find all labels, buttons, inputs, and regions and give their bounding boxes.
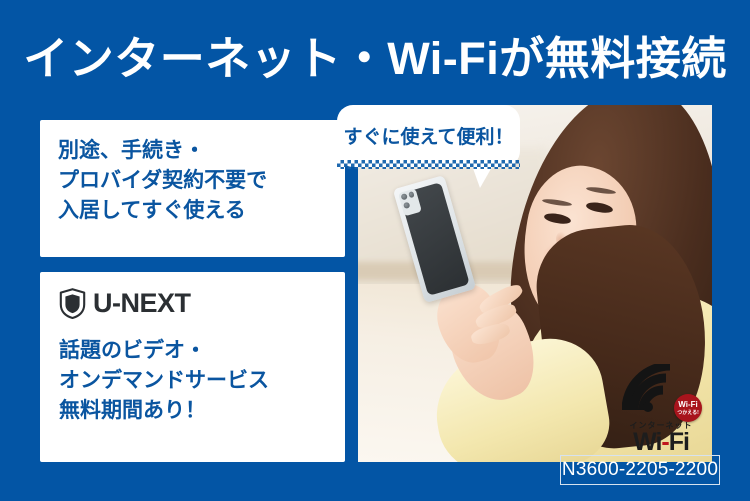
camera-lens-icon	[403, 201, 410, 208]
unext-wordmark: U-NEXT	[93, 290, 191, 317]
camera-lens-icon	[407, 191, 414, 198]
unext-logo: U-NEXT	[59, 288, 191, 319]
wifi-available-badge-line-1: Wi-Fi	[674, 401, 702, 409]
speech-bubble-text: すぐに使えて便利！	[337, 122, 520, 149]
info-card-unext-line-2: オンデマンドサービス	[59, 366, 339, 396]
camera-lens-icon	[400, 193, 407, 200]
info-card-internet: 別途、手続き・ プロバイダ契約不要で 入居してすぐ使える	[40, 120, 345, 257]
wifi-word-right: Fi	[669, 428, 689, 456]
info-card-unext: U-NEXT 話題のビデオ・ オンデマンドサービス 無料期間あり！	[40, 272, 345, 462]
page-title: インターネット・Wi-Fiが無料接続	[0, 36, 750, 81]
info-card-unext-text: 話題のビデオ・ オンデマンドサービス 無料期間あり！	[59, 336, 339, 425]
speech-bubble: すぐに使えて便利！	[337, 105, 520, 167]
wifi-word-dash: -	[661, 428, 668, 456]
wifi-mark-wordmark: Wi-Fi	[618, 430, 704, 455]
speech-bubble-edge	[337, 160, 520, 169]
wifi-available-badge-line-2: つかえる!	[674, 411, 702, 416]
info-card-internet-line-3: 入居してすぐ使える	[58, 196, 333, 226]
info-card-unext-line-1: 話題のビデオ・	[59, 336, 339, 366]
wifi-certification-mark: Wi-Fi つかえる! インターネット Wi-Fi	[618, 364, 704, 456]
reference-code-box: N3600-2205-2200	[560, 455, 720, 485]
info-card-unext-line-3: 無料期間あり！	[59, 396, 339, 426]
wifi-available-badge: Wi-Fi つかえる!	[674, 394, 702, 422]
info-card-internet-line-2: プロバイダ契約不要で	[58, 166, 333, 196]
info-card-internet-line-1: 別途、手続き・	[58, 136, 333, 166]
advertisement-banner: インターネット・Wi-Fiが無料接続 別途、手続き・ プロバイダ契約不要で 入居…	[0, 0, 750, 501]
wifi-word-left: Wi	[633, 428, 661, 456]
shield-icon	[59, 288, 86, 319]
info-card-internet-text: 別途、手続き・ プロバイダ契約不要で 入居してすぐ使える	[58, 136, 333, 225]
